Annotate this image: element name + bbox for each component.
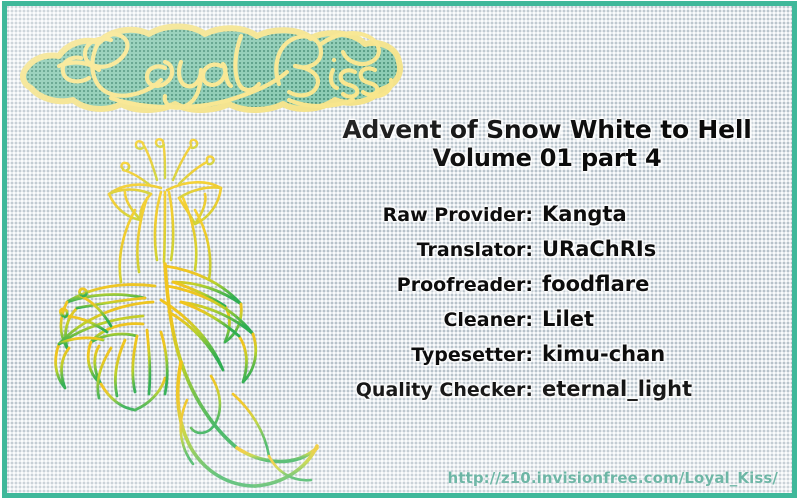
page-frame: Advent of Snow White to Hell Volume 01 p…: [2, 1, 797, 498]
credit-value: URaChRIs: [542, 237, 656, 261]
credit-row-raw-provider: Raw Provider: Kangta: [337, 202, 767, 237]
title-line-1: Advent of Snow White to Hell: [337, 116, 757, 144]
credit-value: eternal_light: [542, 377, 692, 401]
credit-label: Quality Checker:: [337, 379, 542, 401]
credit-row-translator: Translator: URaChRIs: [337, 237, 767, 272]
credit-row-typesetter: Typesetter: kimu-chan: [337, 342, 767, 377]
credit-row-cleaner: Cleaner: Lilet: [337, 307, 767, 342]
lily-flower-artwork: [15, 136, 325, 498]
credit-label: Raw Provider:: [337, 204, 542, 226]
credit-value: foodflare: [542, 272, 649, 296]
credits-page: Advent of Snow White to Hell Volume 01 p…: [0, 0, 800, 500]
credit-row-quality-checker: Quality Checker: eternal_light: [337, 377, 767, 412]
credit-value: Kangta: [542, 202, 627, 226]
credit-label: Cleaner:: [337, 309, 542, 331]
credit-value: kimu-chan: [542, 342, 665, 366]
loyal-kiss-logo: [15, 14, 405, 122]
page-title: Advent of Snow White to Hell Volume 01 p…: [337, 116, 757, 172]
site-url-link[interactable]: http://z10.invisionfree.com/Loyal_Kiss/: [448, 469, 779, 487]
title-line-2: Volume 01 part 4: [337, 144, 757, 172]
credit-label: Typesetter:: [337, 344, 542, 366]
credit-label: Proofreader:: [337, 274, 542, 296]
credit-value: Lilet: [542, 307, 594, 331]
credit-row-proofreader: Proofreader: foodflare: [337, 272, 767, 307]
credit-label: Translator:: [337, 239, 542, 261]
footer-url-bar: http://z10.invisionfree.com/Loyal_Kiss/: [7, 465, 792, 491]
credits-list: Raw Provider: Kangta Translator: URaChRI…: [337, 202, 767, 412]
